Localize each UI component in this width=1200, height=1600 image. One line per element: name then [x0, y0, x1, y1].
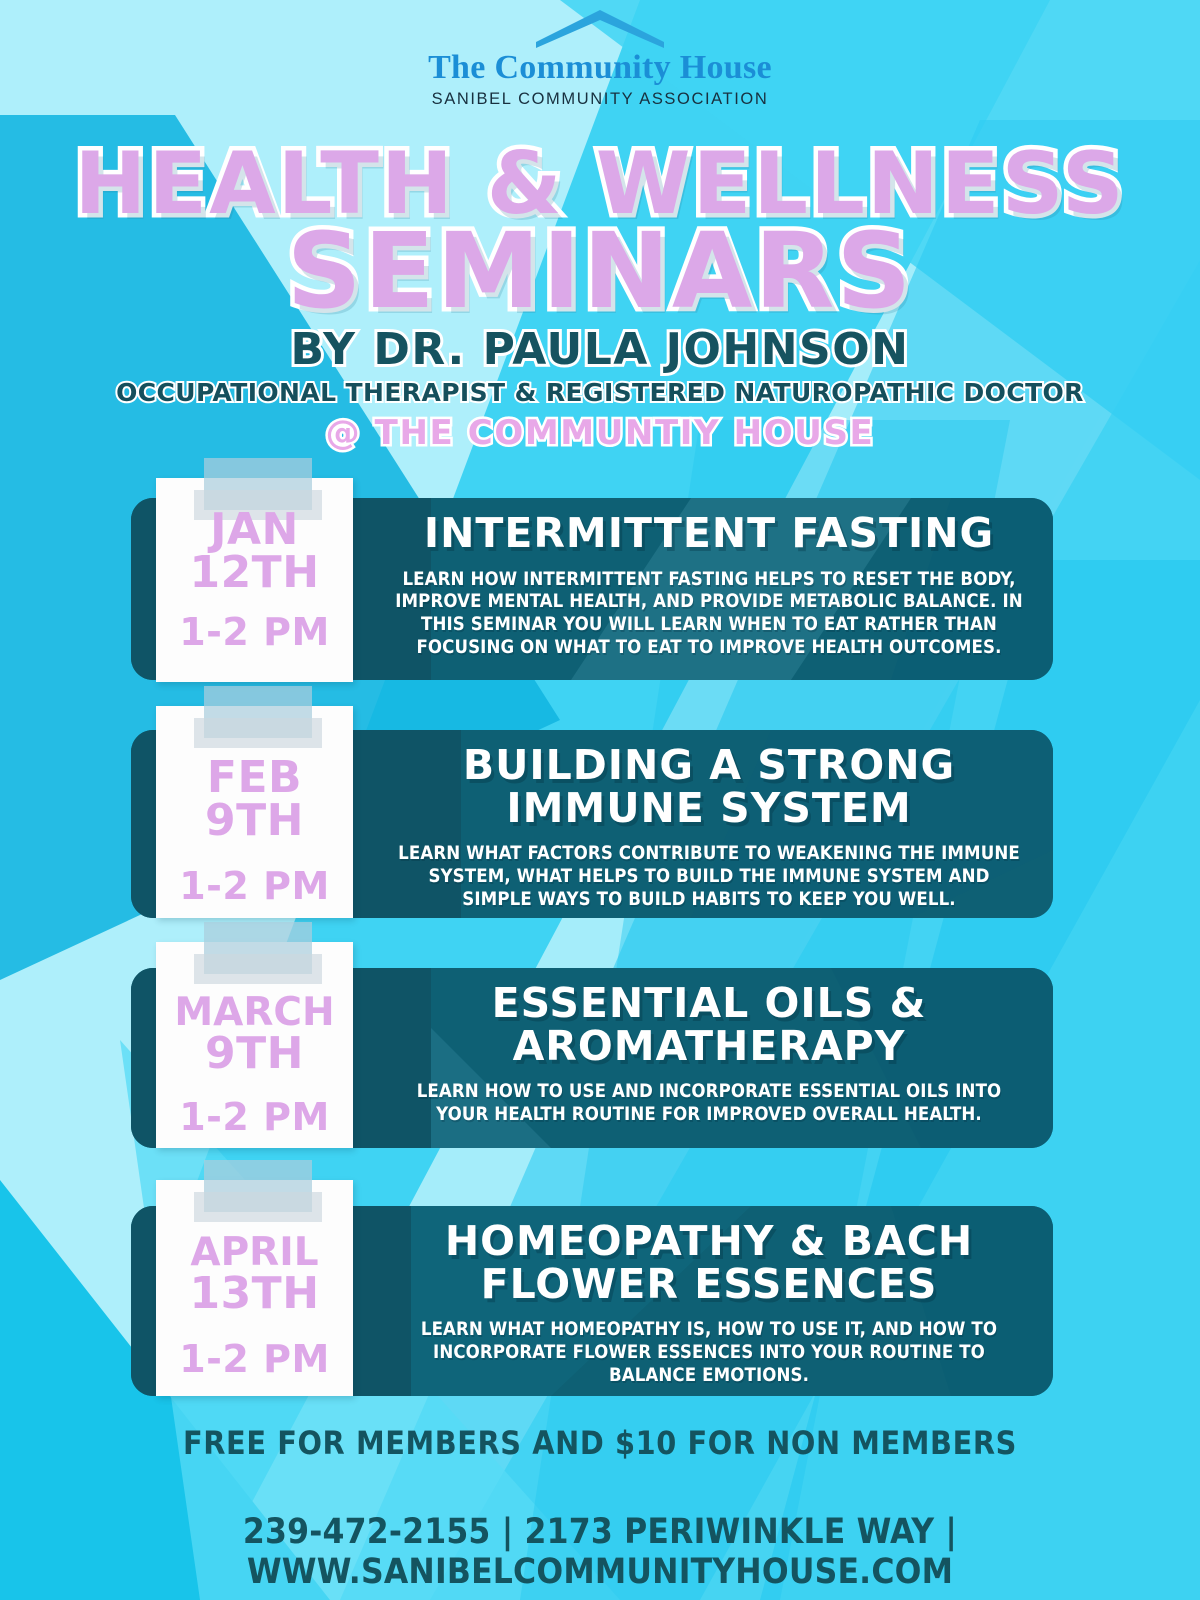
seminar-content: BUILDING A STRONG IMMUNE SYSTEM LEARN WH… [379, 730, 1039, 918]
seminar-description: LEARN HOW INTERMITTENT FASTING HELPS TO … [383, 569, 1035, 660]
poster-canvas: The Community House SANIBEL COMMUNITY AS… [0, 0, 1200, 1600]
seminar-date-note: APRIL 13TH 1-2 PM [156, 1180, 353, 1396]
seminar-description: LEARN WHAT HOMEOPATHY IS, HOW TO USE IT,… [383, 1319, 1035, 1387]
seminar-title-line-2: FLOWER ESSENCES [383, 1263, 1035, 1306]
seminar-day: 9TH [156, 1032, 353, 1075]
seminar-description: LEARN HOW TO USE AND INCORPORATE ESSENTI… [383, 1081, 1035, 1127]
headline-line-2: SEMINARS [0, 222, 1200, 322]
seminar-content: HOMEOPATHY & BACH FLOWER ESSENCES LEARN … [379, 1206, 1039, 1396]
logo-title: The Community House [0, 50, 1200, 87]
seminar-time: 1-2 PM [156, 1095, 353, 1139]
presenter-byline: BY DR. PAULA JOHNSON [0, 327, 1200, 373]
seminar-description: LEARN WHAT FACTORS CONTRIBUTE TO WEAKENI… [383, 843, 1035, 911]
seminar-month: JAN [156, 508, 353, 551]
seminar-month: MARCH [156, 994, 353, 1032]
seminar-month: FEB [156, 756, 353, 799]
tape-strip-lower [194, 718, 322, 748]
seminar-content: ESSENTIAL OILS & AROMATHERAPY LEARN HOW … [379, 968, 1039, 1139]
seminar-title-line-2: AROMATHERAPY [383, 1025, 1035, 1068]
seminar-title-line-1: HOMEOPATHY & BACH [383, 1220, 1035, 1263]
seminar-time: 1-2 PM [156, 610, 353, 654]
logo-subtitle: SANIBEL COMMUNITY ASSOCIATION [0, 90, 1200, 109]
pricing-note: FREE FOR MEMBERS AND $10 FOR NON MEMBERS [0, 1424, 1200, 1462]
seminar-date-note: MARCH 9TH 1-2 PM [156, 942, 353, 1148]
contact-info: 239-472-2155 | 2173 PERIWINKLE WAY | WWW… [0, 1512, 1200, 1592]
seminar-time: 1-2 PM [156, 864, 353, 908]
seminar-title-line-2: IMMUNE SYSTEM [383, 787, 1035, 830]
seminar-title-line-1: ESSENTIAL OILS & [383, 982, 1035, 1025]
venue-label: @ THE COMMUNTIY HOUSE [0, 416, 1200, 452]
presenter-credentials: OCCUPATIONAL THERAPIST & REGISTERED NATU… [0, 380, 1200, 406]
seminar-time: 1-2 PM [156, 1337, 353, 1381]
seminar-date-note: JAN 12TH 1-2 PM [156, 478, 353, 682]
organization-logo: The Community House SANIBEL COMMUNITY AS… [0, 8, 1200, 109]
tape-strip-lower [194, 1192, 322, 1222]
tape-strip-lower [194, 954, 322, 984]
poster-headline: HEALTH & WELLNESS SEMINARS BY DR. PAULA … [0, 143, 1200, 452]
seminar-title-line-1: INTERMITTENT FASTING [383, 512, 1035, 555]
seminar-date-note: FEB 9TH 1-2 PM [156, 706, 353, 918]
seminar-day: 12TH [156, 551, 353, 594]
roof-chevron-icon [534, 8, 666, 48]
seminar-day: 9TH [156, 799, 353, 842]
seminar-month: APRIL [156, 1234, 353, 1272]
seminar-title-line-1: BUILDING A STRONG [383, 744, 1035, 787]
seminar-day: 13TH [156, 1272, 353, 1315]
seminar-content: INTERMITTENT FASTING LEARN HOW INTERMITT… [379, 498, 1039, 672]
